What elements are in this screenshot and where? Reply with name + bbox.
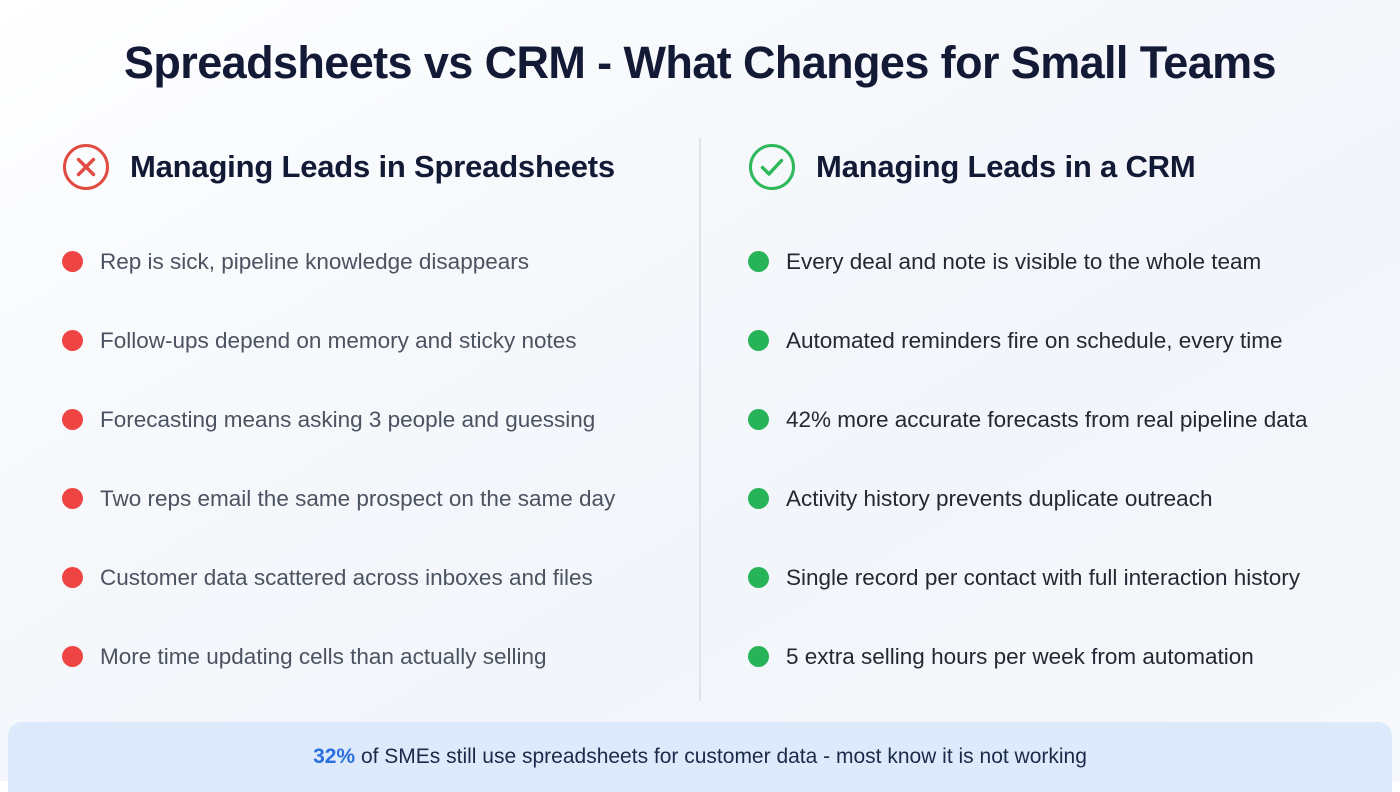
comparison-columns: Managing Leads in Spreadsheets Rep is si… <box>0 138 1400 704</box>
bullet-dot-icon <box>62 646 83 667</box>
list-item: Customer data scattered across inboxes a… <box>62 538 676 617</box>
list-item-label: More time updating cells than actually s… <box>100 642 546 671</box>
page-title: Spreadsheets vs CRM - What Changes for S… <box>0 36 1400 90</box>
bullet-dot-icon <box>748 409 769 430</box>
bullet-dot-icon <box>748 330 769 351</box>
list-item: 5 extra selling hours per week from auto… <box>748 617 1382 696</box>
list-item: Two reps email the same prospect on the … <box>62 459 676 538</box>
list-item-label: Every deal and note is visible to the wh… <box>786 247 1261 276</box>
bullet-dot-icon <box>748 251 769 272</box>
list-item: Single record per contact with full inte… <box>748 538 1382 617</box>
column-spreadsheets: Managing Leads in Spreadsheets Rep is si… <box>0 138 700 704</box>
list-item-label: Customer data scattered across inboxes a… <box>100 563 593 592</box>
footer-stat-value: 32% <box>313 745 355 768</box>
list-item: Rep is sick, pipeline knowledge disappea… <box>62 222 676 301</box>
bullet-dot-icon <box>62 567 83 588</box>
list-item: More time updating cells than actually s… <box>62 617 676 696</box>
footer-banner: 32% of SMEs still use spreadsheets for c… <box>8 722 1392 792</box>
list-item: Automated reminders fire on schedule, ev… <box>748 301 1382 380</box>
list-item-label: Follow-ups depend on memory and sticky n… <box>100 326 577 355</box>
column-header-spreadsheets: Managing Leads in Spreadsheets <box>62 138 676 196</box>
bullet-dot-icon <box>62 251 83 272</box>
bullet-dot-icon <box>748 646 769 667</box>
bullet-dot-icon <box>62 330 83 351</box>
infographic-canvas: Spreadsheets vs CRM - What Changes for S… <box>0 0 1400 781</box>
x-circle-icon <box>62 143 110 191</box>
column-title-spreadsheets: Managing Leads in Spreadsheets <box>130 149 615 185</box>
column-header-crm: Managing Leads in a CRM <box>748 138 1382 196</box>
list-item-label: 5 extra selling hours per week from auto… <box>786 642 1254 671</box>
check-circle-icon <box>748 143 796 191</box>
list-item-label: Forecasting means asking 3 people and gu… <box>100 405 595 434</box>
footer-stat-description: of SMEs still use spreadsheets for custo… <box>355 745 1087 768</box>
list-item-label: Rep is sick, pipeline knowledge disappea… <box>100 247 529 276</box>
bullet-list-spreadsheets: Rep is sick, pipeline knowledge disappea… <box>62 222 676 696</box>
list-item-label: Automated reminders fire on schedule, ev… <box>786 326 1282 355</box>
bullet-dot-icon <box>62 409 83 430</box>
list-item-label: Single record per contact with full inte… <box>786 563 1300 592</box>
footer-text: 32% of SMEs still use spreadsheets for c… <box>313 745 1087 769</box>
list-item-label: 42% more accurate forecasts from real pi… <box>786 405 1308 434</box>
list-item: Every deal and note is visible to the wh… <box>748 222 1382 301</box>
bullet-dot-icon <box>748 488 769 509</box>
bullet-list-crm: Every deal and note is visible to the wh… <box>748 222 1382 696</box>
list-item-label: Activity history prevents duplicate outr… <box>786 484 1212 513</box>
column-title-crm: Managing Leads in a CRM <box>816 149 1196 185</box>
list-item-label: Two reps email the same prospect on the … <box>100 484 615 513</box>
list-item: Activity history prevents duplicate outr… <box>748 459 1382 538</box>
bullet-dot-icon <box>62 488 83 509</box>
list-item: 42% more accurate forecasts from real pi… <box>748 380 1382 459</box>
bullet-dot-icon <box>748 567 769 588</box>
column-crm: Managing Leads in a CRM Every deal and n… <box>700 138 1400 704</box>
list-item: Follow-ups depend on memory and sticky n… <box>62 301 676 380</box>
list-item: Forecasting means asking 3 people and gu… <box>62 380 676 459</box>
